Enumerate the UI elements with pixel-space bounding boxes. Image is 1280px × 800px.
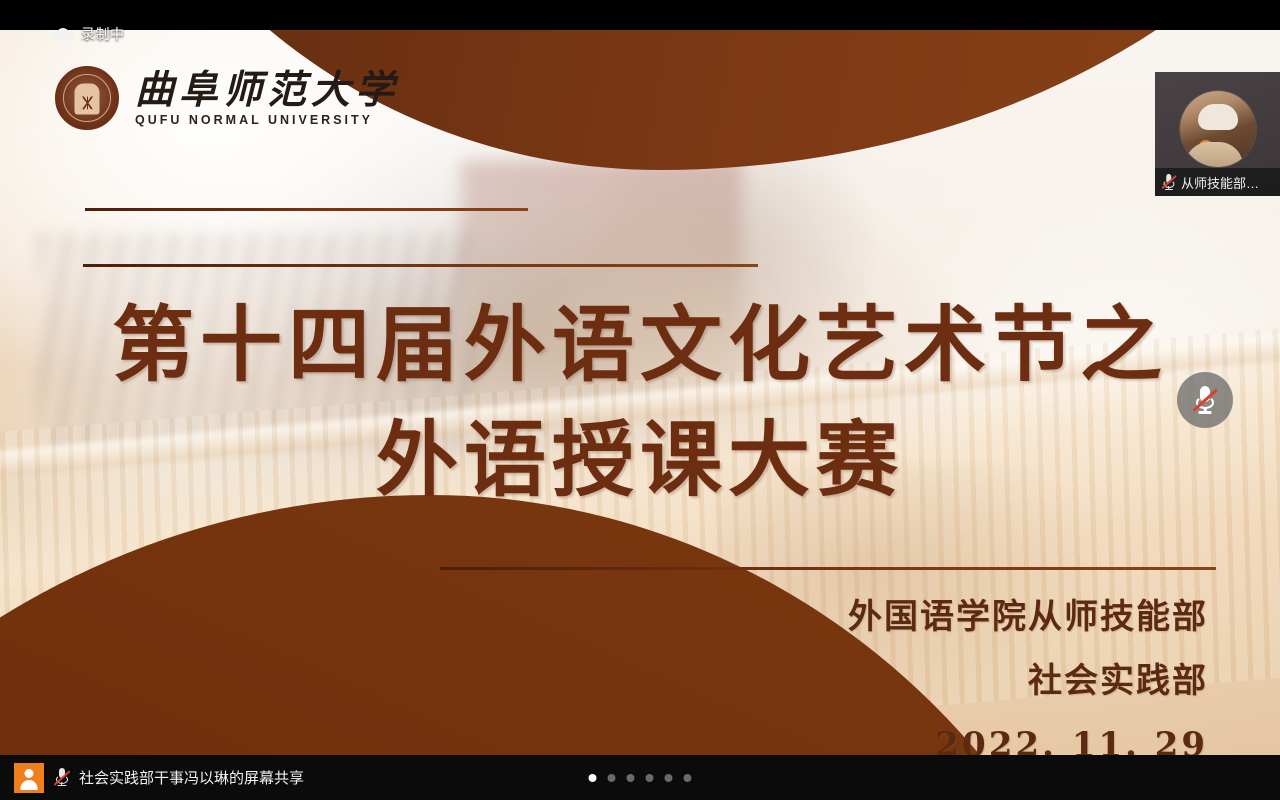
meeting-screen-share-view: 1955 曲阜师范大学 QUFU NORMAL UNIVERSITY 第十四届外… xyxy=(0,0,1280,800)
university-crest-icon: 1955 xyxy=(55,66,119,130)
participant-video-tile[interactable]: 从师技能部… xyxy=(1155,72,1280,196)
decorative-rule-1 xyxy=(85,208,528,211)
slide-credits: 外国语学院从师技能部 社会实践部 2022. 11. 29 xyxy=(848,600,1208,755)
pagination-dot[interactable] xyxy=(684,774,692,782)
mic-muted-icon xyxy=(1191,385,1219,415)
recording-label: 录制中 xyxy=(81,24,125,44)
university-name-en: QUFU NORMAL UNIVERSITY xyxy=(135,113,399,127)
university-name-cn: 曲阜师范大学 xyxy=(135,69,399,111)
pagination-dot[interactable] xyxy=(589,774,597,782)
cloud-icon xyxy=(52,28,74,41)
shared-slide[interactable]: 1955 曲阜师范大学 QUFU NORMAL UNIVERSITY 第十四届外… xyxy=(0,30,1280,755)
logo-wordmark: 曲阜师范大学 QUFU NORMAL UNIVERSITY xyxy=(135,69,399,126)
screen-share-banner[interactable]: 社会实践部干事冯以琳的屏幕共享 xyxy=(14,763,304,793)
participant-name: 从师技能部… xyxy=(1181,173,1259,192)
credit-line-2: 社会实践部 xyxy=(848,664,1208,698)
participant-name-bar: 从师技能部… xyxy=(1155,168,1280,196)
person-icon xyxy=(14,763,44,793)
pagination-dot[interactable] xyxy=(627,774,635,782)
credit-date: 2022. 11. 29 xyxy=(848,728,1208,755)
mic-muted-icon xyxy=(1161,174,1176,191)
decorative-rule-3 xyxy=(440,567,1216,570)
recording-indicator: 录制中 xyxy=(52,24,125,44)
decorative-rule-2 xyxy=(83,264,758,267)
top-bar xyxy=(0,0,1280,30)
mic-muted-icon xyxy=(53,768,70,787)
pagination-dot[interactable] xyxy=(646,774,654,782)
bottom-bar: 社会实践部干事冯以琳的屏幕共享 xyxy=(0,755,1280,800)
slide-pagination[interactable] xyxy=(589,774,692,782)
pagination-dot[interactable] xyxy=(665,774,673,782)
avatar xyxy=(1180,91,1256,167)
pagination-dot[interactable] xyxy=(608,774,616,782)
crest-year-label: 1955 xyxy=(57,109,117,115)
credit-line-1: 外国语学院从师技能部 xyxy=(848,600,1208,634)
floating-mute-button[interactable] xyxy=(1177,372,1233,428)
screen-share-label: 社会实践部干事冯以琳的屏幕共享 xyxy=(79,767,304,788)
university-logo: 1955 曲阜师范大学 QUFU NORMAL UNIVERSITY xyxy=(55,66,399,130)
